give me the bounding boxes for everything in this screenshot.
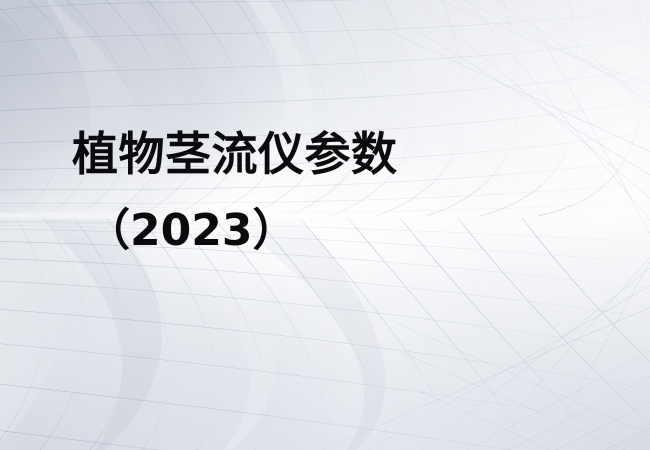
slide-title-secondary: （2023） [86,207,592,255]
title-slide: 植物茎流仪参数 （2023） [0,0,650,450]
top-right-threads [420,0,650,146]
bottom-right-lattice [390,320,650,450]
slide-title-block: 植物茎流仪参数 （2023） [72,128,592,256]
slide-title-primary: 植物茎流仪参数 [72,128,592,181]
